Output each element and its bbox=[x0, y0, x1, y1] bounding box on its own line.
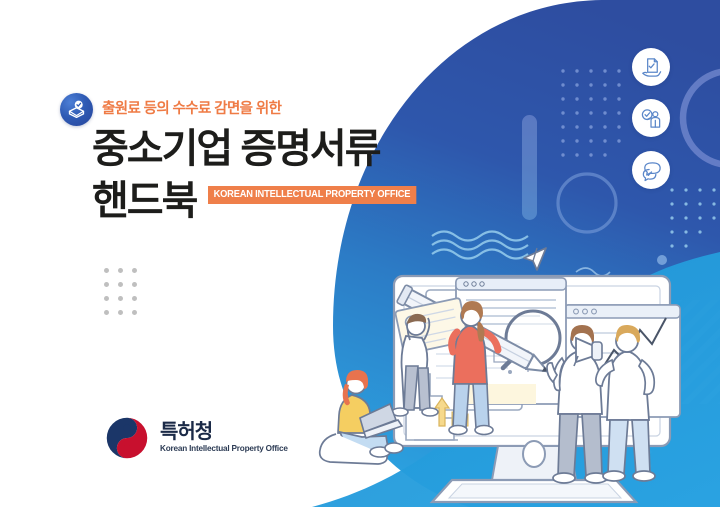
eyebrow-row: 출원료 등의 수수료 감면을 위한 bbox=[60, 93, 281, 126]
person-check-icon bbox=[632, 99, 670, 137]
document-check-on-hand-icon bbox=[632, 48, 670, 86]
kipo-name-en: Korean Intellectual Property Office bbox=[160, 444, 288, 453]
page-title-line2: 핸드북 bbox=[92, 180, 196, 223]
document-tray-check-icon bbox=[60, 93, 93, 126]
chat-check-icon bbox=[632, 151, 670, 189]
kipo-name-kr: 특허청 bbox=[160, 422, 288, 443]
rounded-pill-decor bbox=[522, 115, 537, 220]
taegeuk-symbol bbox=[104, 415, 150, 461]
kipo-logo: 특허청 Korean Intellectual Property Office bbox=[104, 415, 288, 461]
eyebrow-text: 출원료 등의 수수료 감면을 위한 bbox=[102, 102, 281, 117]
page-title-line1: 중소기업 증명서류 bbox=[92, 128, 380, 171]
cover-page: 출원료 등의 수수료 감면을 위한 중소기업 증명서류 핸드북 KOREAN I… bbox=[0, 0, 720, 507]
title-sub-row: 핸드북 KOREAN INTELLECTUAL PROPERTY OFFICE bbox=[92, 180, 432, 223]
kipo-logo-names: 특허청 Korean Intellectual Property Office bbox=[160, 422, 288, 453]
solid-dot-decor bbox=[657, 255, 667, 265]
dot-grid-decor bbox=[104, 268, 146, 324]
kipo-badge: KOREAN INTELLECTUAL PROPERTY OFFICE bbox=[208, 186, 416, 204]
